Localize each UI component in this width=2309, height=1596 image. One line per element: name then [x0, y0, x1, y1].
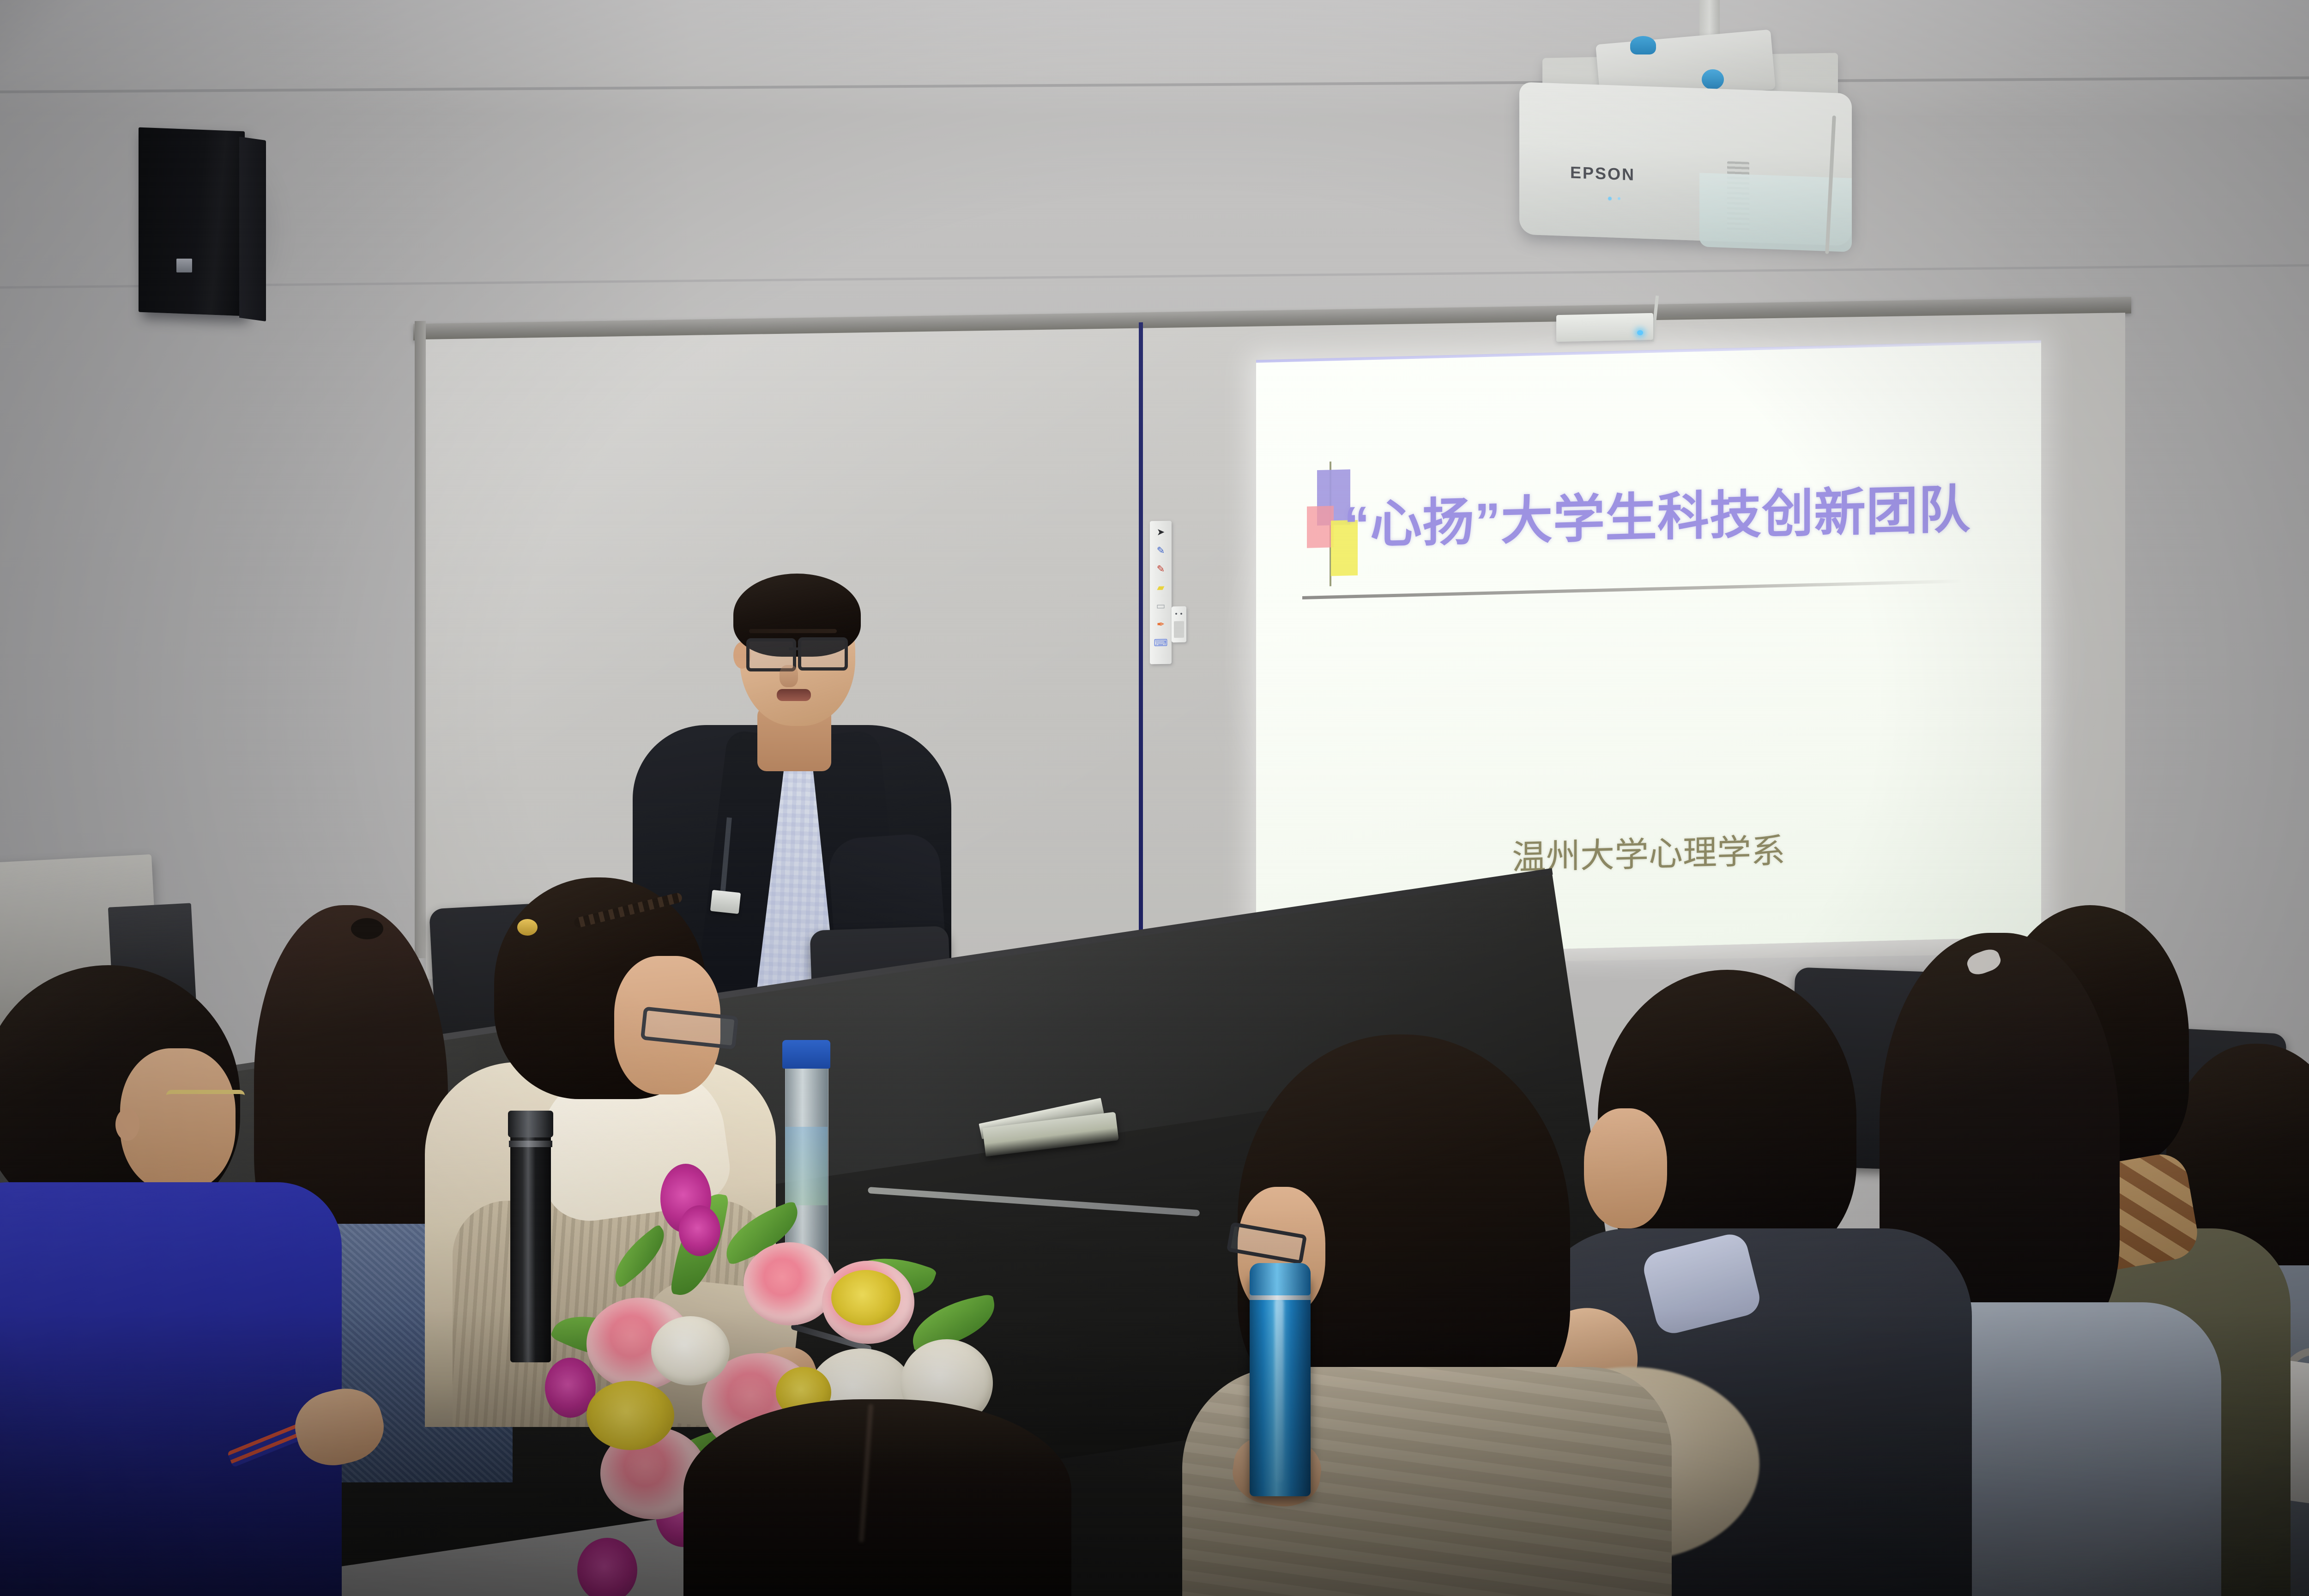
highlighter-tool-icon[interactable]: ▰	[1153, 578, 1168, 597]
student-ear	[115, 1108, 139, 1141]
student-hair	[683, 1399, 1071, 1596]
yellow-flower-cluster	[831, 1270, 901, 1325]
slide-deco-pink-square	[1307, 506, 1334, 548]
black-tumbler-ring	[509, 1141, 552, 1147]
projector-brand-label: EPSON	[1570, 163, 1635, 185]
slide-subtitle: 温州大学心理学系	[1256, 816, 2041, 886]
slide-title: “心扬”大学生科技创新团队	[1344, 467, 2000, 558]
projection-screen: “心扬”大学生科技创新团队 温州大学心理学系	[1256, 341, 2041, 956]
black-tumbler-lid	[508, 1111, 553, 1137]
projector-status-leds-icon	[1607, 196, 1626, 201]
presenter-mouth	[777, 689, 811, 701]
student-glasses	[166, 1090, 245, 1117]
student-blue-jacket	[0, 1182, 342, 1596]
yellow-flower-cluster	[586, 1381, 674, 1450]
projector-adjust-knob-blue-2	[1702, 69, 1724, 90]
presentation-slide: “心扬”大学生科技创新团队 温州大学心理学系	[1256, 341, 2041, 956]
white-rose	[651, 1316, 730, 1385]
presenter-nose	[780, 665, 798, 687]
student-left-blue-jacket	[0, 965, 305, 1596]
orchid-flower	[577, 1538, 637, 1596]
red-pen-tool-icon[interactable]: ✎	[1153, 560, 1168, 579]
blue-thermos-highlight	[1275, 1298, 1284, 1482]
cursor-tool-icon[interactable]: ➤	[1153, 523, 1168, 542]
speaker-logo-icon	[176, 259, 192, 272]
seminar-room-photo: ➤ ✎ ✎ ▰ ▭ ✒ ⌨ “心扬”大学生科技创新团队 温州大学心理学系	[0, 0, 2309, 1596]
ir-sensor-bar	[1556, 313, 1653, 342]
presenter-glasses-right-lens	[798, 637, 848, 671]
keyboard-tool-icon[interactable]: ⌨	[1153, 634, 1168, 653]
wall-speaker	[139, 127, 245, 316]
orchid-flower	[679, 1205, 720, 1256]
projector-adjust-knob-blue	[1630, 36, 1656, 54]
presenter-eyebrows	[749, 629, 837, 633]
blue-thermos-cap	[1250, 1263, 1311, 1295]
water-bottle-cap	[782, 1040, 830, 1069]
blue-pen-tool-icon[interactable]: ✎	[1153, 541, 1168, 560]
whiteboard-left-rail	[415, 321, 426, 958]
flower-leaf	[604, 1224, 675, 1288]
hair-tie	[351, 918, 383, 939]
orange-pen-tool-icon[interactable]: ✒	[1153, 615, 1168, 634]
slide-horizontal-rule	[1302, 580, 1963, 599]
student-foreground-center	[683, 1399, 1071, 1596]
hair-clip	[517, 919, 538, 936]
wall-speaker-side	[239, 137, 266, 321]
whiteboard-tool-strip[interactable]: ➤ ✎ ✎ ▰ ▭ ✒ ⌨	[1150, 521, 1172, 665]
presenter-glasses-bridge	[789, 647, 800, 650]
popup-dots-icon	[1174, 613, 1184, 615]
whiteboard-divider	[1139, 322, 1143, 969]
whiteboard-tool-popup[interactable]	[1172, 606, 1186, 643]
popup-panel	[1174, 621, 1184, 638]
ir-sensor-led-icon	[1637, 330, 1643, 335]
pink-rose	[743, 1242, 836, 1325]
eraser-tool-icon[interactable]: ▭	[1153, 597, 1168, 616]
